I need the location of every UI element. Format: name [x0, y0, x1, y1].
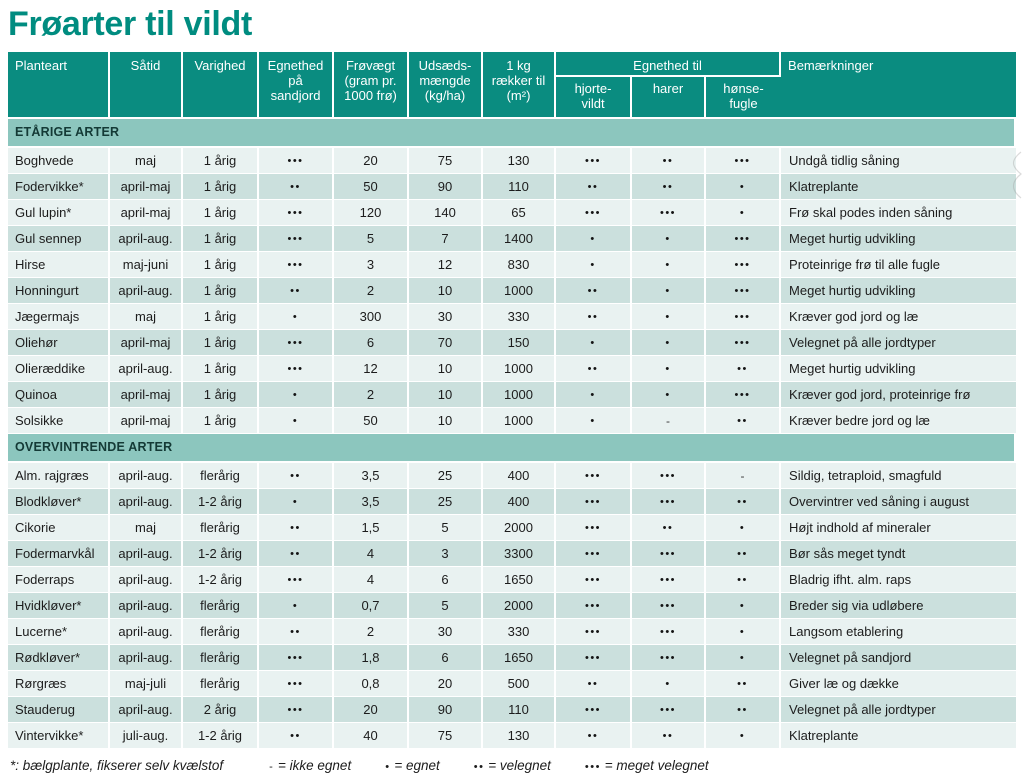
cell-hjortevildt: ••• — [556, 200, 632, 226]
cell-satid: juli-aug. — [110, 723, 183, 749]
cell-frovaegt: 1,5 — [334, 515, 409, 541]
suitability-dots: ••• — [585, 470, 601, 482]
table-row: Olieræddikeapril-aug.1 årig•••12101000••… — [8, 356, 1016, 382]
cell-udsaedsmaengde: 75 — [409, 148, 483, 174]
suitability-dots: • — [665, 285, 670, 297]
cell-satid: april-aug. — [110, 645, 183, 671]
cell-planteart: Vintervikke* — [8, 723, 110, 749]
cell-raekker: 2000 — [483, 593, 556, 619]
table-row: Vintervikke*juli-aug.1-2 årig••4075130••… — [8, 723, 1016, 749]
cell-hjortevildt: ••• — [556, 463, 632, 489]
cell-hjortevildt: • — [556, 408, 632, 434]
cell-egnethed_sandjord: •• — [259, 174, 334, 200]
cell-raekker: 110 — [483, 697, 556, 723]
cell-honsefugle: - — [706, 463, 781, 489]
suitability-dots: • — [665, 363, 670, 375]
cell-varighed: 1 årig — [183, 226, 259, 252]
suitability-dots: •• — [588, 181, 599, 193]
cell-varighed: 1-2 årig — [183, 723, 259, 749]
cell-udsaedsmaengde: 10 — [409, 382, 483, 408]
col-header-frovaegt-line1: Frøvægt — [340, 58, 401, 73]
suitability-dots: ••• — [660, 207, 676, 219]
cell-egnethed_sandjord: •• — [259, 515, 334, 541]
table-row: Rødkløver*april-aug.flerårig•••1,861650•… — [8, 645, 1016, 671]
suitability-dots: • — [740, 181, 745, 193]
suitability-dots: • — [740, 522, 745, 534]
cell-planteart: Honningurt — [8, 278, 110, 304]
cell-hjortevildt: •• — [556, 174, 632, 200]
suitability-dots: • — [740, 207, 745, 219]
seed-species-table: Planteart Såtid Varighed Egnethed på san… — [8, 52, 1016, 749]
table-row: Cikoriemajflerårig••1,552000••••••Højt i… — [8, 515, 1016, 541]
col-header-group-egnethed-til: Egnethed til — [556, 52, 781, 77]
cell-egnethed_sandjord: •• — [259, 463, 334, 489]
cell-raekker: 65 — [483, 200, 556, 226]
cell-honsefugle: ••• — [706, 252, 781, 278]
col-header-bemaerkninger: Bemærkninger — [781, 52, 1016, 119]
cell-satid: april-aug. — [110, 567, 183, 593]
cell-hjortevildt: •• — [556, 278, 632, 304]
suitability-dots: •• — [588, 285, 599, 297]
suitability-dots: ••• — [585, 574, 601, 586]
table-row: Gul lupin*april-maj1 årig•••12014065••••… — [8, 200, 1016, 226]
col-header-udsaedsmaengde-line2: mængde — [415, 73, 475, 88]
cell-egnethed_sandjord: ••• — [259, 567, 334, 593]
cell-satid: april-maj — [110, 200, 183, 226]
cell-egnethed_sandjord: •• — [259, 278, 334, 304]
cell-varighed: 1 årig — [183, 148, 259, 174]
suitability-dots: ••• — [734, 259, 750, 271]
cell-planteart: Foderraps — [8, 567, 110, 593]
col-header-honsefugle-line1: hønse- — [708, 81, 779, 96]
cell-satid: april-aug. — [110, 278, 183, 304]
suitability-dots: ••• — [585, 155, 601, 167]
cell-udsaedsmaengde: 75 — [409, 723, 483, 749]
suitability-dots: • — [740, 600, 745, 612]
cell-raekker: 330 — [483, 619, 556, 645]
cell-planteart: Hvidkløver* — [8, 593, 110, 619]
suitability-dots: ••• — [287, 678, 303, 690]
suitability-dots: •• — [290, 470, 301, 482]
col-header-varighed: Varighed — [183, 52, 259, 119]
cell-harer: • — [632, 252, 706, 278]
cell-harer: • — [632, 330, 706, 356]
cell-frovaegt: 5 — [334, 226, 409, 252]
suitability-dots: ••• — [734, 311, 750, 323]
cell-varighed: 1 årig — [183, 252, 259, 278]
suitability-dots: ••• — [660, 574, 676, 586]
cell-hjortevildt: ••• — [556, 515, 632, 541]
cell-hjortevildt: •• — [556, 723, 632, 749]
cell-egnethed_sandjord: ••• — [259, 697, 334, 723]
table-row: Solsikkeapril-maj1 årig•50101000•-••Kræv… — [8, 408, 1016, 434]
cell-udsaedsmaengde: 3 — [409, 541, 483, 567]
cell-frovaegt: 0,8 — [334, 671, 409, 697]
cell-udsaedsmaengde: 20 — [409, 671, 483, 697]
cell-hjortevildt: • — [556, 330, 632, 356]
cell-raekker: 830 — [483, 252, 556, 278]
cell-honsefugle: ••• — [706, 278, 781, 304]
cell-frovaegt: 12 — [334, 356, 409, 382]
table-row: Lucerne*april-aug.flerårig••230330••••••… — [8, 619, 1016, 645]
suitability-dots: • — [665, 233, 670, 245]
col-header-udsaedsmaengde-line3: (kg/ha) — [415, 88, 475, 103]
table-row: Alm. rajgræsapril-aug.flerårig••3,525400… — [8, 463, 1016, 489]
suitability-dots: • — [665, 678, 670, 690]
cell-frovaegt: 0,7 — [334, 593, 409, 619]
suitability-dots: • — [293, 600, 298, 612]
cell-bemaerkninger: Klatreplante — [781, 174, 1016, 200]
suitability-dots: • — [590, 337, 595, 349]
cell-raekker: 130 — [483, 148, 556, 174]
cell-harer: ••• — [632, 489, 706, 515]
cell-planteart: Rødkløver* — [8, 645, 110, 671]
cell-planteart: Solsikke — [8, 408, 110, 434]
suitability-dots: • — [293, 496, 298, 508]
cell-bemaerkninger: Velegnet på alle jordtyper — [781, 330, 1016, 356]
suitability-dots: ••• — [660, 600, 676, 612]
cell-planteart: Boghvede — [8, 148, 110, 174]
cell-honsefugle: ••• — [706, 304, 781, 330]
cell-egnethed_sandjord: ••• — [259, 645, 334, 671]
legend: *: bælgplante, fikserer selv kvælstof- =… — [10, 758, 1030, 773]
cell-bemaerkninger: Overvintrer ved såning i august — [781, 489, 1016, 515]
suitability-dots: ••• — [734, 155, 750, 167]
suitability-dots: • — [665, 389, 670, 401]
header-row-top: Planteart Såtid Varighed Egnethed på san… — [8, 52, 1016, 77]
suitability-dots: •• — [737, 415, 748, 427]
suitability-dots: • — [590, 259, 595, 271]
cell-bemaerkninger: Frø skal podes inden såning — [781, 200, 1016, 226]
cell-harer: ••• — [632, 645, 706, 671]
cell-harer: ••• — [632, 463, 706, 489]
legend-text: = velegnet — [484, 758, 550, 773]
cell-raekker: 3300 — [483, 541, 556, 567]
cell-varighed: 2 årig — [183, 697, 259, 723]
legend-text: *: bælgplante, fikserer selv kvælstof — [10, 758, 223, 773]
cell-planteart: Gul sennep — [8, 226, 110, 252]
cell-frovaegt: 6 — [334, 330, 409, 356]
suitability-dots: ••• — [287, 704, 303, 716]
cell-udsaedsmaengde: 30 — [409, 619, 483, 645]
suitability-dots: ••• — [585, 652, 601, 664]
col-header-honsefugle: hønse- fugle — [706, 77, 781, 119]
suitability-dots: ••• — [585, 626, 601, 638]
cell-raekker: 330 — [483, 304, 556, 330]
cell-harer: ••• — [632, 593, 706, 619]
cell-harer: • — [632, 226, 706, 252]
cell-satid: april-aug. — [110, 541, 183, 567]
cell-satid: maj — [110, 148, 183, 174]
cell-udsaedsmaengde: 70 — [409, 330, 483, 356]
cell-egnethed_sandjord: • — [259, 304, 334, 330]
legend-item: *: bælgplante, fikserer selv kvælstof — [10, 758, 223, 773]
cell-bemaerkninger: Klatreplante — [781, 723, 1016, 749]
cell-udsaedsmaengde: 7 — [409, 226, 483, 252]
cell-satid: april-maj — [110, 330, 183, 356]
cell-harer: •• — [632, 148, 706, 174]
cell-honsefugle: • — [706, 723, 781, 749]
table-row: Rørgræsmaj-juliflerårig•••0,820500•••••G… — [8, 671, 1016, 697]
suitability-dots: ••• — [734, 337, 750, 349]
cell-bemaerkninger: Kræver god jord og læ — [781, 304, 1016, 330]
col-header-harer: harer — [632, 77, 706, 119]
cell-honsefugle: • — [706, 200, 781, 226]
cell-raekker: 1000 — [483, 408, 556, 434]
suitability-dots: ••• — [734, 233, 750, 245]
cell-varighed: flerårig — [183, 619, 259, 645]
cell-harer: • — [632, 278, 706, 304]
cell-honsefugle: • — [706, 515, 781, 541]
cell-planteart: Lucerne* — [8, 619, 110, 645]
suitability-dots: ••• — [660, 704, 676, 716]
cell-egnethed_sandjord: • — [259, 382, 334, 408]
cell-honsefugle: • — [706, 645, 781, 671]
cell-honsefugle: •• — [706, 408, 781, 434]
cell-udsaedsmaengde: 5 — [409, 593, 483, 619]
cell-bemaerkninger: Sildig, tetraploid, smagfuld — [781, 463, 1016, 489]
suitability-dots: ••• — [734, 389, 750, 401]
cell-satid: april-maj — [110, 382, 183, 408]
cell-satid: maj — [110, 515, 183, 541]
table-row: Fodervikke*april-maj1 årig••5090110•••••… — [8, 174, 1016, 200]
cell-hjortevildt: • — [556, 252, 632, 278]
cell-planteart: Stauderug — [8, 697, 110, 723]
col-header-udsaedsmaengde: Udsæds- mængde (kg/ha) — [409, 52, 483, 119]
cell-planteart: Jægermajs — [8, 304, 110, 330]
suitability-dots: •• — [290, 626, 301, 638]
cell-frovaegt: 50 — [334, 174, 409, 200]
cell-planteart: Rørgræs — [8, 671, 110, 697]
table-body: ETÅRIGE ARTERBoghvedemaj1 årig•••2075130… — [8, 119, 1016, 749]
cell-hjortevildt: • — [556, 382, 632, 408]
cell-frovaegt: 1,8 — [334, 645, 409, 671]
cell-varighed: 1 årig — [183, 382, 259, 408]
cell-egnethed_sandjord: • — [259, 593, 334, 619]
not-suitable-dash: - — [666, 414, 670, 428]
cell-varighed: 1-2 årig — [183, 489, 259, 515]
cell-egnethed_sandjord: •• — [259, 541, 334, 567]
suitability-dots: ••• — [585, 704, 601, 716]
cell-bemaerkninger: Giver læ og dække — [781, 671, 1016, 697]
cell-frovaegt: 2 — [334, 382, 409, 408]
cell-satid: maj-juli — [110, 671, 183, 697]
cell-bemaerkninger: Bladrig ifht. alm. raps — [781, 567, 1016, 593]
cell-hjortevildt: •• — [556, 356, 632, 382]
suitability-dots: •• — [588, 730, 599, 742]
cell-satid: maj-juni — [110, 252, 183, 278]
suitability-dots: • — [740, 652, 745, 664]
suitability-dots: • — [293, 311, 298, 323]
legend-item: •• = velegnet — [474, 758, 551, 773]
col-header-egnethed-sandjord-line1: Egnethed — [265, 58, 326, 73]
suitability-dots: • — [740, 626, 745, 638]
cell-raekker: 1000 — [483, 382, 556, 408]
cell-hjortevildt: •• — [556, 671, 632, 697]
cell-satid: april-aug. — [110, 619, 183, 645]
cell-udsaedsmaengde: 140 — [409, 200, 483, 226]
cell-hjortevildt: ••• — [556, 489, 632, 515]
cell-bemaerkninger: Meget hurtig udvikling — [781, 226, 1016, 252]
table-row: Jægermajsmaj1 årig•30030330••••••Kræver … — [8, 304, 1016, 330]
suitability-dots: •• — [663, 730, 674, 742]
col-header-hjortevildt-line1: hjorte- — [558, 81, 628, 96]
legend-text: = meget velegnet — [601, 758, 709, 773]
legend-item: • = egnet — [385, 758, 440, 773]
cell-egnethed_sandjord: ••• — [259, 252, 334, 278]
cell-egnethed_sandjord: •• — [259, 619, 334, 645]
suitability-dots: • — [665, 259, 670, 271]
cell-honsefugle: ••• — [706, 148, 781, 174]
cell-bemaerkninger: Højt indhold af mineraler — [781, 515, 1016, 541]
col-header-egnethed-sandjord-line2: på — [265, 73, 326, 88]
suitability-dots: ••• — [660, 470, 676, 482]
seed-species-table-wrapper: Planteart Såtid Varighed Egnethed på san… — [8, 52, 1016, 749]
suitability-dots: •• — [588, 363, 599, 375]
col-header-raekker-line3: (m²) — [489, 88, 548, 103]
cell-frovaegt: 20 — [334, 148, 409, 174]
cell-bemaerkninger: Kræver bedre jord og læ — [781, 408, 1016, 434]
suitability-dots: •• — [737, 678, 748, 690]
cell-varighed: flerårig — [183, 671, 259, 697]
cell-bemaerkninger: Breder sig via udløbere — [781, 593, 1016, 619]
col-header-frovaegt-line3: 1000 frø) — [340, 88, 401, 103]
section-header-row: OVERVINTRENDE ARTER — [8, 434, 1016, 463]
section-header-row: ETÅRIGE ARTER — [8, 119, 1016, 148]
cell-varighed: 1 årig — [183, 200, 259, 226]
col-header-raekker: 1 kg rækker til (m²) — [483, 52, 556, 119]
cell-frovaegt: 3 — [334, 252, 409, 278]
suitability-dots: •• — [588, 678, 599, 690]
cell-raekker: 2000 — [483, 515, 556, 541]
suitability-dots: •• — [290, 181, 301, 193]
col-header-raekker-line2: rækker til — [489, 73, 548, 88]
cell-hjortevildt: ••• — [556, 541, 632, 567]
col-header-frovaegt: Frøvægt (gram pr. 1000 frø) — [334, 52, 409, 119]
cell-bemaerkninger: Kræver god jord, proteinrige frø — [781, 382, 1016, 408]
cell-egnethed_sandjord: ••• — [259, 148, 334, 174]
cell-frovaegt: 3,5 — [334, 489, 409, 515]
cell-satid: april-maj — [110, 174, 183, 200]
cell-udsaedsmaengde: 5 — [409, 515, 483, 541]
cell-egnethed_sandjord: • — [259, 489, 334, 515]
suitability-dots: •• — [663, 522, 674, 534]
table-row: Boghvedemaj1 årig•••2075130••••••••Undgå… — [8, 148, 1016, 174]
cell-frovaegt: 50 — [334, 408, 409, 434]
cell-satid: maj — [110, 304, 183, 330]
cell-planteart: Fodermarvkål — [8, 541, 110, 567]
col-header-egnethed-sandjord-line3: sandjord — [265, 88, 326, 103]
table-row: Foderrapsapril-aug.1-2 årig•••461650••••… — [8, 567, 1016, 593]
suitability-dots: ••• — [287, 574, 303, 586]
table-header: Planteart Såtid Varighed Egnethed på san… — [8, 52, 1016, 119]
cell-egnethed_sandjord: ••• — [259, 330, 334, 356]
cell-udsaedsmaengde: 6 — [409, 645, 483, 671]
suitability-dots: ••• — [585, 548, 601, 560]
suitability-dots: • — [665, 311, 670, 323]
cell-varighed: 1 årig — [183, 356, 259, 382]
suitability-dots: ••• — [287, 259, 303, 271]
table-row: Blodkløver*april-aug.1-2 årig•3,525400••… — [8, 489, 1016, 515]
suitability-dots: •• — [737, 496, 748, 508]
col-header-planteart: Planteart — [8, 52, 110, 119]
suitability-dots: •• — [737, 363, 748, 375]
suitability-dots: • — [590, 233, 595, 245]
suitability-dots: ••• — [660, 626, 676, 638]
cell-satid: april-aug. — [110, 697, 183, 723]
cell-raekker: 400 — [483, 489, 556, 515]
cell-planteart: Cikorie — [8, 515, 110, 541]
cell-raekker: 500 — [483, 671, 556, 697]
cell-harer: ••• — [632, 200, 706, 226]
cell-frovaegt: 40 — [334, 723, 409, 749]
cell-varighed: flerårig — [183, 463, 259, 489]
suitability-dots: • — [740, 730, 745, 742]
suitability-dots: ••• — [585, 496, 601, 508]
suitability-dots: ••• — [287, 337, 303, 349]
cell-raekker: 400 — [483, 463, 556, 489]
cell-egnethed_sandjord: ••• — [259, 226, 334, 252]
cell-varighed: flerårig — [183, 645, 259, 671]
cell-honsefugle: •• — [706, 356, 781, 382]
legend-item: - = ikke egnet — [269, 758, 351, 773]
cell-raekker: 1650 — [483, 567, 556, 593]
legend-text: = egnet — [391, 758, 440, 773]
cell-frovaegt: 120 — [334, 200, 409, 226]
legend-marks: ••• — [585, 761, 601, 773]
table-row: Hvidkløver*april-aug.flerårig•0,752000••… — [8, 593, 1016, 619]
cell-satid: april-maj — [110, 408, 183, 434]
cell-bemaerkninger: Meget hurtig udvikling — [781, 356, 1016, 382]
cell-varighed: 1 årig — [183, 278, 259, 304]
cell-varighed: 1 årig — [183, 304, 259, 330]
cell-raekker: 110 — [483, 174, 556, 200]
cell-varighed: 1 årig — [183, 174, 259, 200]
cell-hjortevildt: ••• — [556, 567, 632, 593]
col-header-udsaedsmaengde-line1: Udsæds- — [415, 58, 475, 73]
cell-bemaerkninger: Bør sås meget tyndt — [781, 541, 1016, 567]
cell-honsefugle: •• — [706, 489, 781, 515]
not-suitable-dash: - — [741, 469, 745, 483]
cell-frovaegt: 2 — [334, 278, 409, 304]
suitability-dots: • — [293, 389, 298, 401]
cell-bemaerkninger: Velegnet på alle jordtyper — [781, 697, 1016, 723]
cell-harer: ••• — [632, 697, 706, 723]
suitability-dots: •• — [290, 285, 301, 297]
cell-egnethed_sandjord: •• — [259, 723, 334, 749]
cell-harer: •• — [632, 723, 706, 749]
cell-bemaerkninger: Proteinrige frø til alle fugle — [781, 252, 1016, 278]
cell-planteart: Hirse — [8, 252, 110, 278]
col-header-raekker-line1: 1 kg — [489, 58, 548, 73]
suitability-dots: •• — [663, 155, 674, 167]
cell-udsaedsmaengde: 25 — [409, 489, 483, 515]
cell-varighed: 1-2 årig — [183, 541, 259, 567]
suitability-dots: ••• — [660, 548, 676, 560]
cell-udsaedsmaengde: 30 — [409, 304, 483, 330]
suitability-dots: • — [590, 389, 595, 401]
cell-honsefugle: ••• — [706, 382, 781, 408]
cell-hjortevildt: ••• — [556, 593, 632, 619]
cell-hjortevildt: ••• — [556, 645, 632, 671]
table-row: Hirsemaj-juni1 årig•••312830•••••Protein… — [8, 252, 1016, 278]
col-header-frovaegt-line2: (gram pr. — [340, 73, 401, 88]
col-header-satid: Såtid — [110, 52, 183, 119]
cell-harer: ••• — [632, 619, 706, 645]
suitability-dots: •• — [290, 730, 301, 742]
suitability-dots: ••• — [660, 652, 676, 664]
section-title: OVERVINTRENDE ARTER — [8, 434, 1016, 463]
